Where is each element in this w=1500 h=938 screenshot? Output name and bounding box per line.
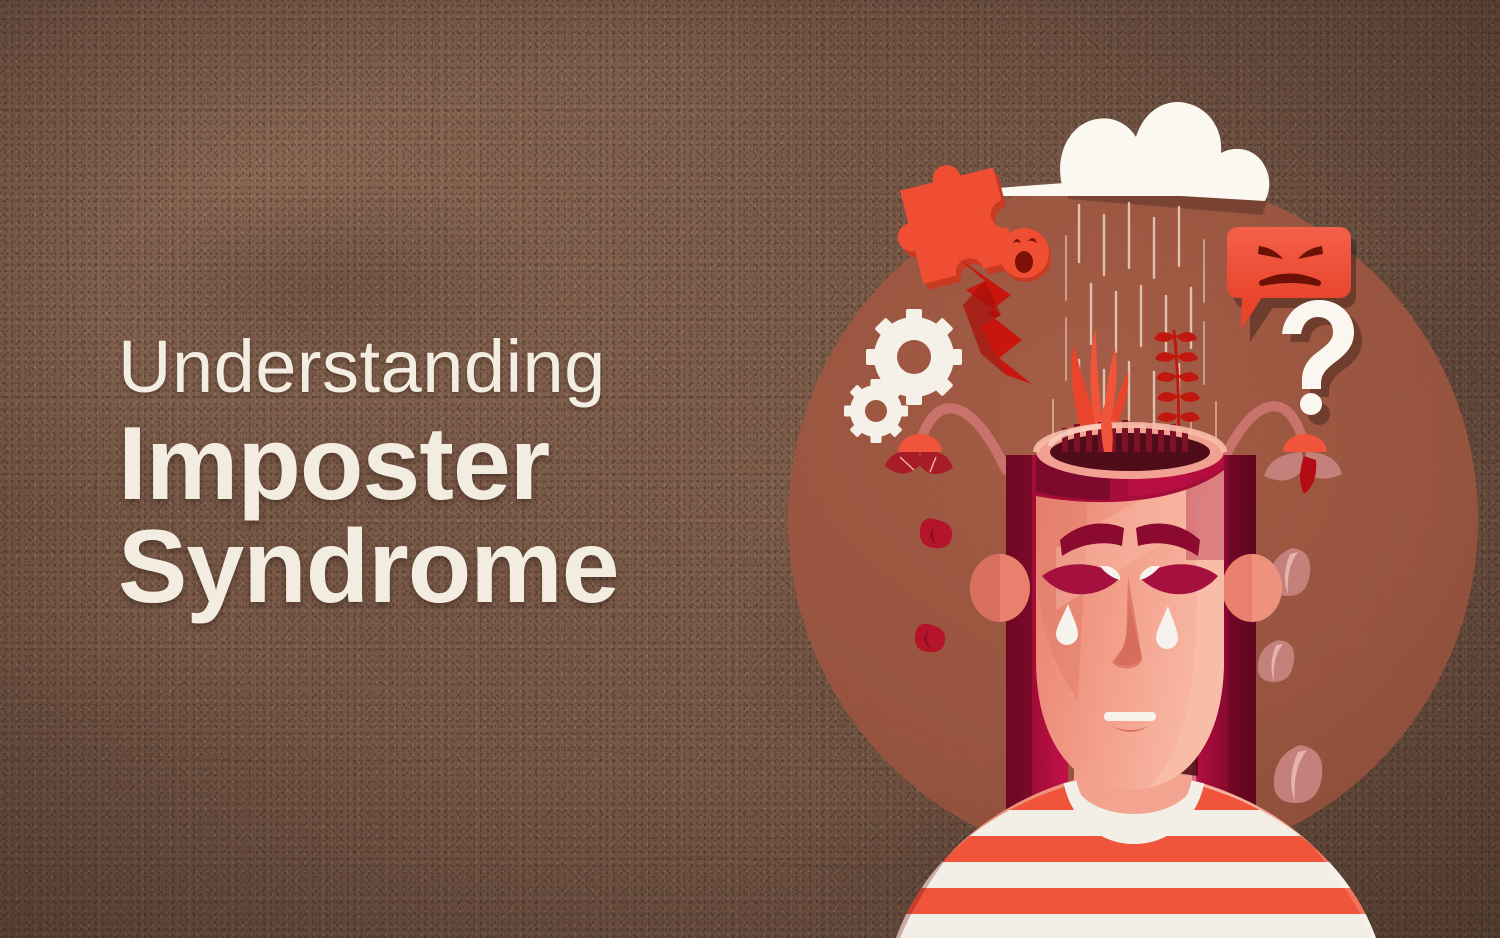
ear-left — [970, 554, 1030, 622]
illustration-stage — [0, 0, 1500, 938]
illustration-svg — [0, 0, 1500, 938]
mouth — [1104, 712, 1156, 721]
poster-canvas: Understanding Imposter Syndrome — [0, 0, 1500, 938]
ear-right — [1222, 554, 1282, 622]
